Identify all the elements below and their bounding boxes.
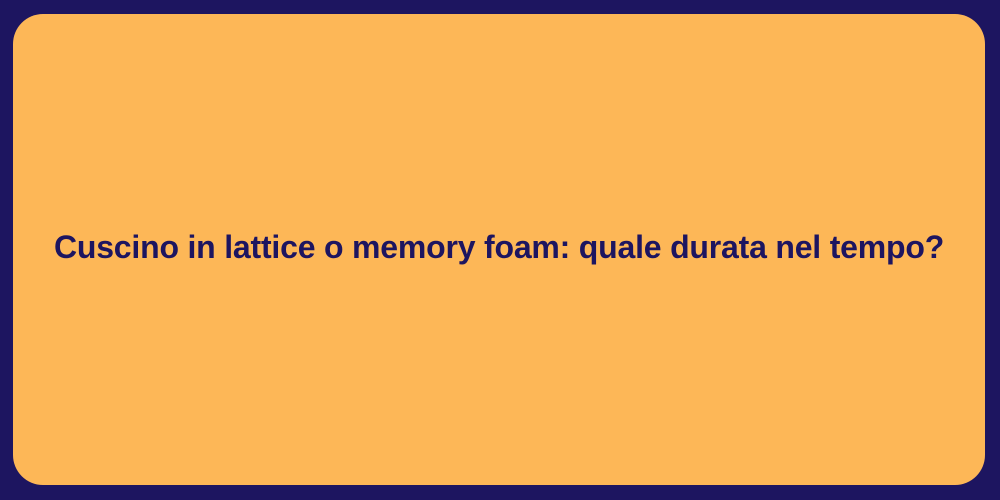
headline-container: Cuscino in lattice o memory foam: quale … (13, 229, 985, 267)
card-frame: Cuscino in lattice o memory foam: quale … (0, 0, 1000, 500)
card-panel: Cuscino in lattice o memory foam: quale … (13, 14, 985, 485)
page-title: Cuscino in lattice o memory foam: quale … (53, 229, 945, 267)
